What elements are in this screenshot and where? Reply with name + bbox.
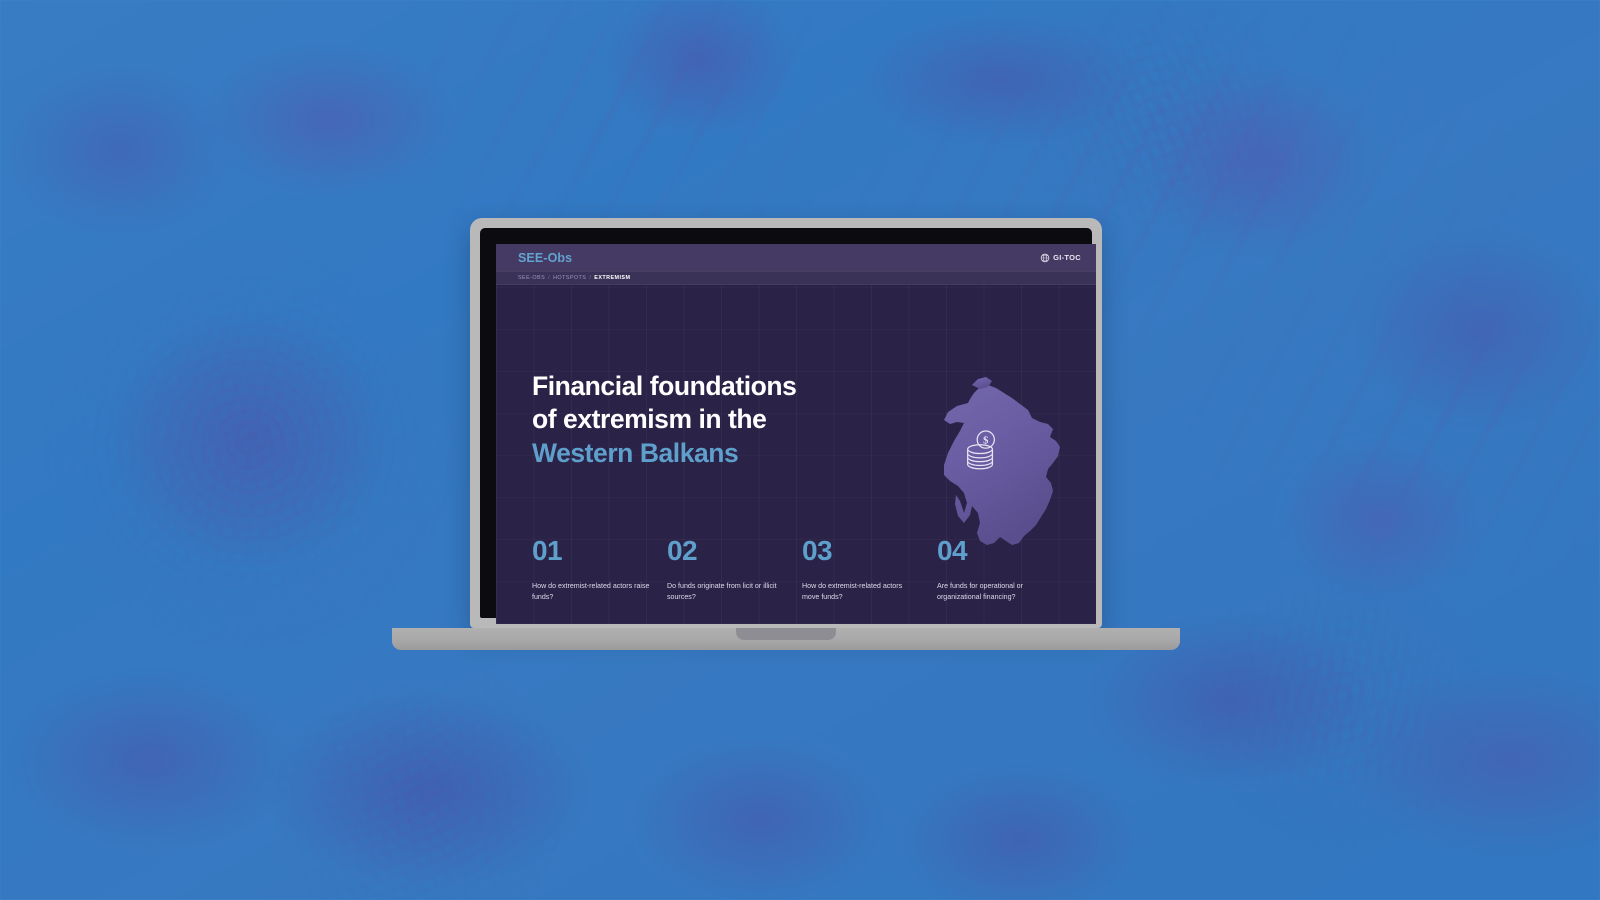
question-text: Are funds for operational or organizatio…	[937, 581, 1055, 602]
question-number: 02	[667, 537, 802, 565]
laptop-lid: SEE-Obs GI-TOC	[470, 218, 1102, 628]
page-title-line-2: of extremism in the	[532, 403, 796, 436]
laptop-bezel: SEE-Obs GI-TOC	[480, 228, 1092, 618]
laptop-screen: SEE-Obs GI-TOC	[496, 244, 1096, 624]
question-text: How do extremist-related actors move fun…	[802, 581, 920, 602]
breadcrumb-separator: /	[548, 275, 550, 281]
breadcrumb: SEE-OBS / HOTSPOTS / EXTREMISM	[496, 271, 1096, 285]
dollar-sign-glyph: $	[983, 436, 988, 447]
hero-section: Financial foundations of extremism in th…	[496, 285, 1096, 624]
page-title-line-3-accent: Western Balkans	[532, 437, 796, 470]
gitoc-logo[interactable]: GI-TOC	[1040, 253, 1081, 263]
laptop-hinge-notch	[736, 628, 836, 640]
breadcrumb-item-see-obs[interactable]: SEE-OBS	[518, 275, 545, 281]
laptop-mockup: SEE-Obs GI-TOC	[470, 218, 1102, 666]
breadcrumb-item-hotspots[interactable]: HOTSPOTS	[553, 275, 586, 281]
breadcrumb-separator: /	[589, 275, 591, 281]
site-header: SEE-Obs GI-TOC	[496, 244, 1096, 271]
site-brand-logo[interactable]: SEE-Obs	[518, 251, 572, 265]
coin-stack-dollar-icon: $	[960, 428, 1002, 476]
question-item-03: 03 How do extremist-related actors move …	[802, 537, 937, 602]
globe-icon	[1040, 253, 1050, 263]
question-item-04: 04 Are funds for operational or organiza…	[937, 537, 1072, 602]
question-number: 04	[937, 537, 1072, 565]
page-title: Financial foundations of extremism in th…	[532, 370, 796, 470]
breadcrumb-item-extremism: EXTREMISM	[594, 275, 630, 281]
question-number: 03	[802, 537, 937, 565]
gitoc-label: GI-TOC	[1053, 253, 1081, 262]
question-text: How do extremist-related actors raise fu…	[532, 581, 650, 602]
website-viewport: SEE-Obs GI-TOC	[496, 244, 1096, 624]
research-questions-list: 01 How do extremist-related actors raise…	[532, 537, 1074, 602]
question-item-02: 02 Do funds originate from licit or illi…	[667, 537, 802, 602]
page-title-line-1: Financial foundations	[532, 370, 796, 403]
question-text: Do funds originate from licit or illicit…	[667, 581, 785, 602]
question-item-01: 01 How do extremist-related actors raise…	[532, 537, 667, 602]
question-number: 01	[532, 537, 667, 565]
